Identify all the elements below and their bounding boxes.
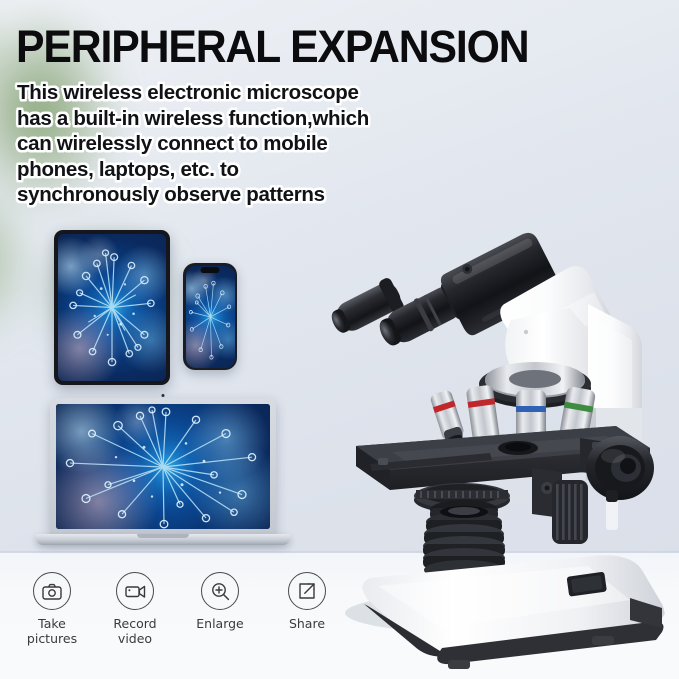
cell-tendrils-overlay — [186, 266, 235, 368]
feature-label-line1: Take — [8, 617, 96, 632]
microscope-product-photo — [330, 108, 679, 679]
cell-tendrils-overlay — [58, 234, 166, 381]
feature-label: Take pictures — [8, 617, 96, 646]
phone-screen — [186, 266, 235, 368]
feature-enlarge[interactable]: Enlarge — [176, 572, 264, 632]
tablet-screen — [58, 234, 166, 381]
description-line: This wireless electronic microscope — [17, 80, 447, 106]
tablet-device-mockup — [54, 230, 170, 385]
feature-label-line2: video — [91, 632, 179, 647]
feature-label: Share — [263, 617, 351, 632]
share-icon[interactable] — [288, 572, 326, 610]
laptop-lid — [50, 398, 276, 537]
feature-label-line1: Record — [91, 617, 179, 632]
feature-label: Enlarge — [176, 617, 264, 632]
phone-dynamic-island — [201, 267, 220, 273]
feature-record-video[interactable]: Record video — [91, 572, 179, 646]
product-marketing-image: PERIPHERAL EXPANSION This wireless elect… — [0, 0, 679, 679]
feature-take-pictures[interactable]: Take pictures — [8, 572, 96, 646]
feature-label-line1: Share — [263, 617, 351, 632]
feature-share[interactable]: Share — [263, 572, 351, 632]
camera-icon[interactable] — [33, 572, 71, 610]
feature-label-line1: Enlarge — [176, 617, 264, 632]
laptop-base-hinge — [36, 534, 290, 545]
page-title: PERIPHERAL EXPANSION — [16, 22, 528, 72]
laptop-webcam-icon — [162, 394, 165, 397]
laptop-device-mockup — [36, 398, 290, 556]
feature-label-line2: pictures — [8, 632, 96, 647]
laptop-latch-notch — [137, 534, 189, 538]
feature-label: Record video — [91, 617, 179, 646]
magnifier-plus-icon[interactable] — [201, 572, 239, 610]
cell-tendrils-overlay — [56, 404, 270, 529]
video-camera-icon[interactable] — [116, 572, 154, 610]
laptop-screen — [56, 404, 270, 529]
smartphone-device-mockup — [183, 263, 237, 370]
feature-list: Take pictures Record video — [0, 572, 352, 672]
